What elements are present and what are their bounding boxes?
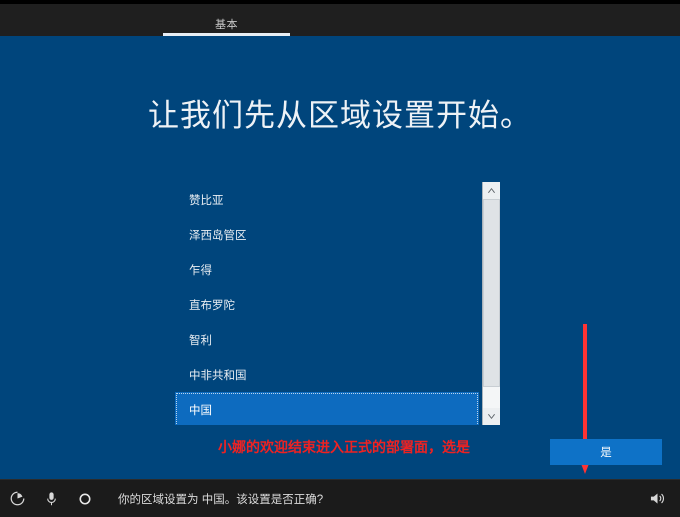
- list-item-label: 智利: [189, 332, 212, 348]
- oobe-main-stage: 让我们先从区域设置开始。 赞比亚 泽西岛管区 乍得 直布罗陀 智利: [0, 36, 680, 480]
- annotation-text: 小娜的欢迎结束进入正式的部署面，选是: [168, 437, 520, 457]
- cortana-circle-icon[interactable]: [68, 480, 102, 517]
- list-item-label: 中国: [189, 402, 212, 418]
- list-item-label: 赞比亚: [189, 192, 224, 208]
- yes-button[interactable]: 是: [550, 439, 662, 465]
- scrollbar-track[interactable]: [483, 199, 500, 408]
- list-item[interactable]: 乍得: [175, 252, 479, 287]
- tab-basic-label: 基本: [215, 16, 238, 32]
- scrollbar-thumb[interactable]: [483, 199, 500, 387]
- window-titlebar: 基本: [0, 0, 680, 36]
- list-item-selected[interactable]: 中国: [175, 392, 479, 425]
- ease-of-access-icon[interactable]: [0, 480, 34, 517]
- list-item-label: 乍得: [189, 262, 212, 278]
- oobe-screen: 基本 让我们先从区域设置开始。 赞比亚 泽西岛管区 乍得 直布罗陀: [0, 0, 680, 517]
- list-item[interactable]: 泽西岛管区: [175, 217, 479, 252]
- region-listbox[interactable]: 赞比亚 泽西岛管区 乍得 直布罗陀 智利 中非共和国 中国: [175, 182, 500, 425]
- list-item[interactable]: 智利: [175, 322, 479, 357]
- list-item[interactable]: 赞比亚: [175, 182, 479, 217]
- list-item[interactable]: 中非共和国: [175, 357, 479, 392]
- list-item-label: 直布罗陀: [189, 297, 235, 313]
- speaker-icon[interactable]: [649, 480, 666, 517]
- list-item-label: 泽西岛管区: [189, 227, 247, 243]
- region-list-items: 赞比亚 泽西岛管区 乍得 直布罗陀 智利 中非共和国 中国: [175, 182, 479, 425]
- region-list-scrollbar[interactable]: [482, 182, 500, 425]
- list-item[interactable]: 直布罗陀: [175, 287, 479, 322]
- yes-button-label: 是: [600, 444, 612, 460]
- oobe-taskbar: 你的区域设置为 中国。该设置是否正确?: [0, 479, 680, 517]
- scroll-down-icon[interactable]: [483, 408, 500, 425]
- scroll-up-icon[interactable]: [483, 182, 500, 199]
- microphone-icon[interactable]: [34, 480, 68, 517]
- cortana-prompt-text: 你的区域设置为 中国。该设置是否正确?: [118, 491, 323, 507]
- page-title: 让我们先从区域设置开始。: [0, 90, 680, 135]
- list-item-label: 中非共和国: [189, 367, 247, 383]
